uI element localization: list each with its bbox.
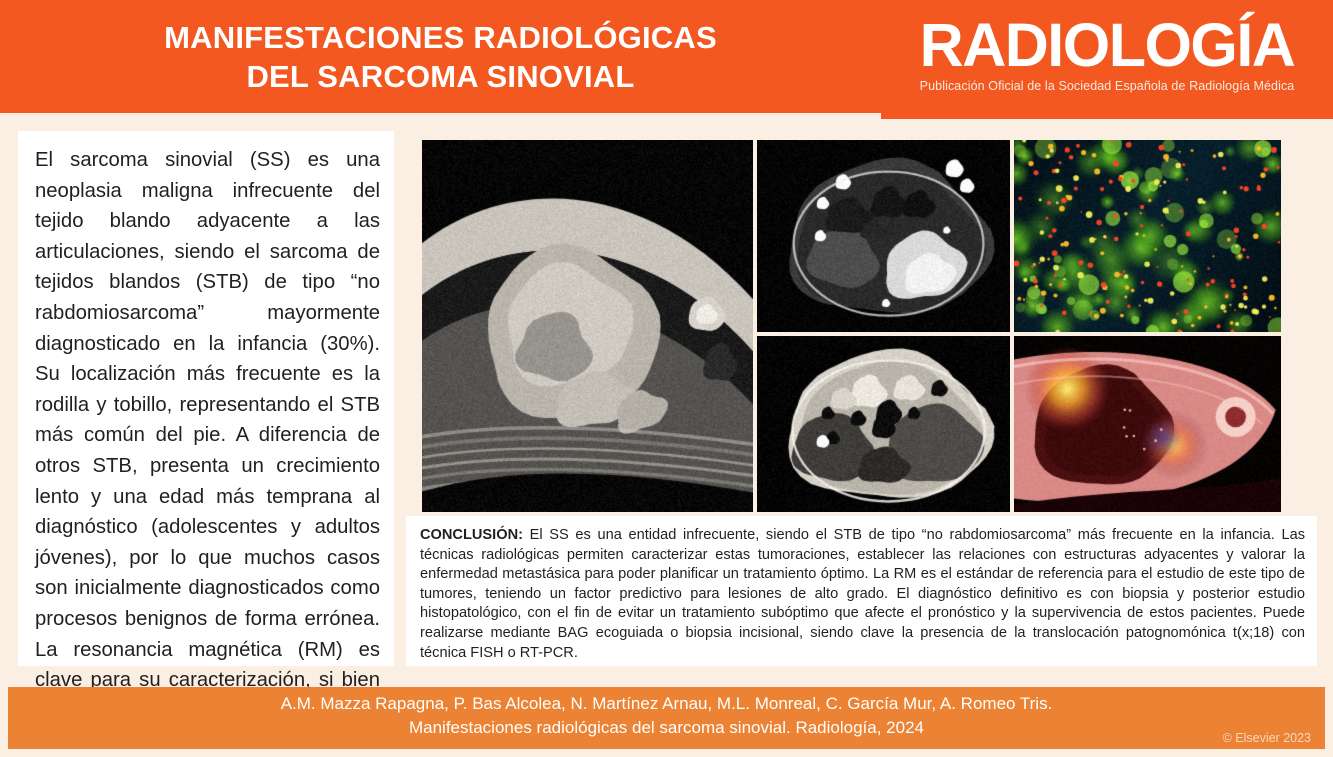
page-title-line1: MANIFESTACIONES RADIOLÓGICAS	[0, 18, 881, 57]
introduction-panel: El sarcoma sinovial (SS) es una neoplasi…	[18, 131, 394, 666]
mri-axial-t1-mass-image	[757, 336, 1010, 512]
footer-citation: Manifestaciones radiológicas del sarcoma…	[8, 716, 1325, 740]
journal-logo: RADIOLOGÍA Publicación Oficial de la Soc…	[881, 13, 1333, 94]
footer-authors: A.M. Mazza Rapagna, P. Bas Alcolea, N. M…	[8, 687, 1325, 716]
figure-grid	[422, 140, 1281, 512]
conclusion-panel: CONCLUSIÓN: El SS es una entidad infrecu…	[406, 516, 1317, 666]
page-title: MANIFESTACIONES RADIOLÓGICAS DEL SARCOMA…	[0, 18, 881, 96]
conclusion-label: CONCLUSIÓN:	[420, 527, 523, 543]
mri-axial-t2-fatsat-mass-image	[757, 140, 1010, 332]
introduction-text: El sarcoma sinovial (SS) es una neoplasi…	[35, 145, 380, 757]
pet-ct-fusion-axial-image	[1014, 336, 1281, 512]
poster-header: MANIFESTACIONES RADIOLÓGICAS DEL SARCOMA…	[0, 0, 1333, 119]
footer-copyright: © Elsevier 2023	[1223, 731, 1311, 746]
fish-fluorescence-microscopy-figure	[1014, 140, 1281, 332]
journal-name: RADIOLOGÍA	[881, 13, 1333, 77]
conclusion-text: CONCLUSIÓN: El SS es una entidad infrecu…	[420, 526, 1305, 663]
poster-footer: A.M. Mazza Rapagna, P. Bas Alcolea, N. M…	[8, 687, 1325, 749]
poster-root: MANIFESTACIONES RADIOLÓGICAS DEL SARCOMA…	[0, 0, 1333, 756]
mri-sagittal-thigh-mass-image	[422, 140, 753, 512]
fish-fluorescence-microscopy-image	[1014, 140, 1281, 332]
mri-axial-t2-fatsat-mass-figure	[757, 140, 1010, 332]
pet-ct-fusion-axial-figure	[1014, 336, 1281, 512]
mri-axial-t1-mass-figure	[757, 336, 1010, 512]
mri-sagittal-thigh-mass-figure	[422, 140, 753, 512]
conclusion-body: El SS es una entidad infrecuente, siendo…	[420, 527, 1305, 661]
journal-subtitle: Publicación Oficial de la Sociedad Españ…	[881, 78, 1333, 94]
page-title-line2: DEL SARCOMA SINOVIAL	[0, 57, 881, 96]
